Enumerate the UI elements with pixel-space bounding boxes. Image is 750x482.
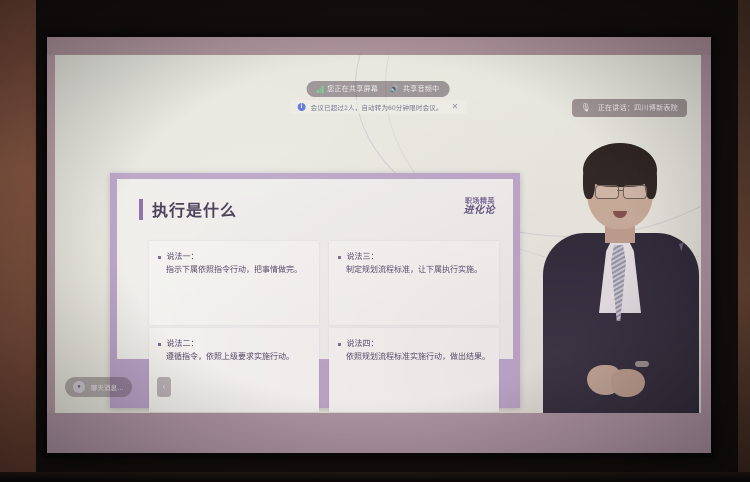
presenter-watch <box>635 361 649 367</box>
info-icon: i <box>298 103 306 111</box>
slide-card: 说法四： 依照规划流程标准实施行动，做出结果。 <box>329 328 499 412</box>
meeting-notice-bar[interactable]: i 会议已超过2人，自动转为60分钟限时会议。 ✕ <box>290 100 467 114</box>
screen-share-status: 您正在共享屏幕 <box>317 84 379 94</box>
slide-card-label: 说法三： <box>347 251 379 263</box>
title-accent-bar <box>139 199 143 220</box>
slide-card-body: 遵循指令，依照上级要求实施行动。 <box>166 350 310 364</box>
room-floor <box>0 472 750 482</box>
chat-preview-bubble[interactable]: ● 聊天消息… <box>65 377 132 397</box>
screen-share-label: 您正在共享屏幕 <box>327 84 378 94</box>
slide-card: 说法二： 遵循指令，依照上级要求实施行动。 <box>149 328 319 412</box>
chevron-left-icon: ‹ <box>163 383 166 391</box>
slide-card: 说法三： 制定规划流程标准，让下属执行实施。 <box>329 241 499 325</box>
presenter-hair-side-left <box>583 163 595 199</box>
active-speaker-chip[interactable]: 🎙 正在讲话：四川博新表院 <box>572 99 687 117</box>
slide-card-head: 说法四： <box>338 338 490 350</box>
brand-logo: 职场精英 进化论 <box>464 197 496 217</box>
panel-collapse-button[interactable]: ‹ <box>157 377 171 397</box>
audio-share-label: 共享音频中 <box>403 84 440 94</box>
slide-card-body: 依照规划流程标准实施行动，做出结果。 <box>346 350 490 364</box>
app-top-strip <box>47 37 711 55</box>
page-title: 执行是什么 <box>152 197 237 221</box>
speaker-icon: 🔊 <box>390 86 399 93</box>
bullet-icon <box>338 343 341 346</box>
close-icon[interactable]: ✕ <box>452 103 459 111</box>
meeting-notice-text: 会议已超过2人，自动转为60分钟限时会议。 <box>311 102 443 112</box>
slide-title-group: 执行是什么 <box>139 197 237 221</box>
slide-card-head: 说法一： <box>158 251 310 263</box>
app-bottom-strip <box>47 413 711 453</box>
projection-screen-surface: 执行是什么 职场精英 进化论 说法一： 指示下属依照指令行动，把事情做完。 <box>47 37 711 453</box>
shared-screen-canvas: 执行是什么 职场精英 进化论 说法一： 指示下属依照指令行动，把事情做完。 <box>55 55 701 413</box>
slide-card-label: 说法四： <box>347 338 379 350</box>
slide-card-grid: 说法一： 指示下属依照指令行动，把事情做完。 说法三： 制定规划流程标准，让下属… <box>149 241 499 412</box>
slide-card-body: 指示下属依照指令行动，把事情做完。 <box>166 263 310 277</box>
brand-logo-line1: 职场精英 <box>464 197 496 205</box>
presentation-slide: 执行是什么 职场精英 进化论 说法一： 指示下属依照指令行动，把事情做完。 <box>110 173 520 408</box>
slide-content-panel: 执行是什么 职场精英 进化论 说法一： 指示下属依照指令行动，把事情做完。 <box>117 179 513 359</box>
slide-card-head: 说法二： <box>158 338 310 350</box>
share-status-pill[interactable]: 您正在共享屏幕 🔊 共享音频中 <box>307 81 450 97</box>
audio-share-status: 🔊 共享音频中 <box>390 84 439 94</box>
slide-card-label: 说法一： <box>167 251 199 263</box>
slide-card-head: 说法三： <box>338 251 490 263</box>
presenter-glasses-right <box>623 185 647 199</box>
slide-card: 说法一： 指示下属依照指令行动，把事情做完。 <box>149 241 319 325</box>
bullet-icon <box>338 256 341 259</box>
signal-bars-icon <box>317 86 324 93</box>
active-speaker-label: 正在讲话：四川博新表院 <box>598 103 678 113</box>
microphone-icon: 🎙 <box>581 104 591 112</box>
slide-card-label: 说法二： <box>167 338 199 350</box>
room-left-wall <box>0 0 36 482</box>
bullet-icon <box>158 256 161 259</box>
room-right-wall <box>738 0 750 482</box>
screenshot-stage: 执行是什么 职场精英 进化论 说法一： 指示下属依照指令行动，把事情做完。 <box>0 0 750 482</box>
presenter-glasses-left <box>595 185 619 199</box>
user-avatar-icon: ● <box>73 381 85 393</box>
app-left-strip <box>47 55 55 453</box>
presenter-video <box>525 133 701 413</box>
slide-card-body: 制定规划流程标准，让下属执行实施。 <box>346 263 490 277</box>
chat-preview-text: 聊天消息… <box>91 382 124 392</box>
presenter-glasses-bridge <box>617 190 623 191</box>
app-right-strip <box>701 55 711 453</box>
bullet-icon <box>158 343 161 346</box>
brand-logo-line2: 进化论 <box>464 205 496 217</box>
